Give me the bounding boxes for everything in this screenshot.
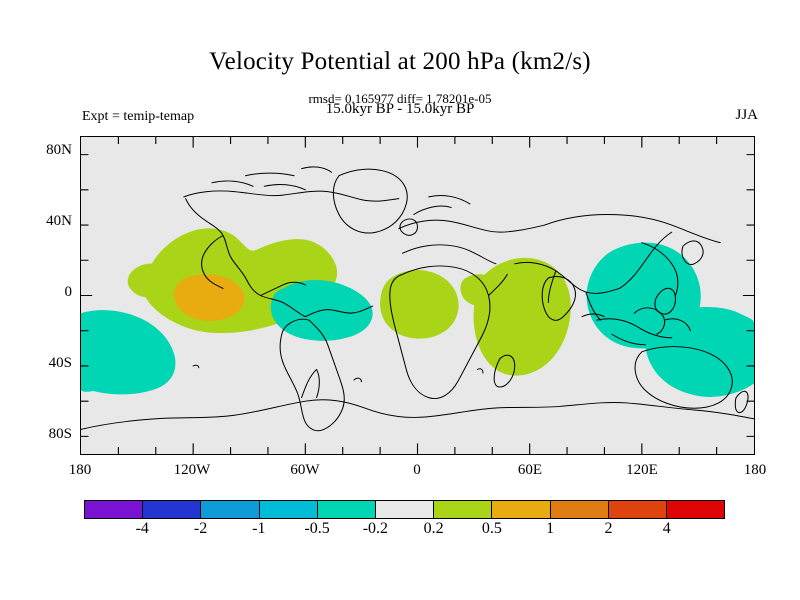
contour-shading-layer <box>81 228 754 397</box>
region-australia-negative <box>645 307 754 397</box>
colorbar-tick-1: 1 <box>520 520 580 538</box>
coastline-new-zealand <box>735 391 748 412</box>
map-plot-area <box>80 136 755 455</box>
colorbar-tick-labels: -4-2-1-0.5-0.20.20.5124 <box>84 520 725 542</box>
colorbar-band-3 <box>260 501 318 518</box>
colorbar <box>84 500 725 519</box>
region-west-africa-positive <box>380 270 459 339</box>
season-label: JJA <box>735 107 758 124</box>
colorbar-band-8 <box>551 501 609 518</box>
x-axis-label-180e: 180 <box>720 462 790 479</box>
colorbar-band-2 <box>201 501 259 518</box>
coastline-japan <box>682 241 703 265</box>
x-axis-label-60e: 60E <box>495 462 565 479</box>
y-axis-label-80s: 80S <box>16 426 72 443</box>
y-axis-label-40n: 40N <box>16 213 72 230</box>
y-axis-label-0: 0 <box>16 284 72 301</box>
colorbar-tick--4: -4 <box>112 520 172 538</box>
x-axis-label-60w: 60W <box>270 462 340 479</box>
colorbar-tick-0.5: 0.5 <box>462 520 522 538</box>
x-axis-label-120w: 120W <box>157 462 227 479</box>
coastline-antarctic-peninsula <box>302 369 320 397</box>
page-title: Velocity Potential at 200 hPa (km2/s) <box>0 48 800 76</box>
region-northeast-pacific-lobe <box>128 264 169 298</box>
colorbar-tick-2: 2 <box>578 520 638 538</box>
region-indian-ocean-positive <box>474 258 571 376</box>
colorbar-band-10 <box>667 501 724 518</box>
coastline-arctic-islands <box>212 167 332 190</box>
colorbar-band-0 <box>85 501 143 518</box>
colorbar-tick--0.5: -0.5 <box>287 520 347 538</box>
coastline-antarctica <box>81 400 754 430</box>
coastline-europe <box>399 195 545 263</box>
x-axis-label-180w: 180 <box>45 462 115 479</box>
x-axis-label-0: 0 <box>382 462 452 479</box>
colorbar-band-5 <box>376 501 434 518</box>
colorbar-tick-0.2: 0.2 <box>404 520 464 538</box>
colorbar-band-4 <box>318 501 376 518</box>
x-axis-label-120e: 120E <box>607 462 677 479</box>
colorbar-bands <box>84 500 725 519</box>
world-map-svg <box>81 137 754 454</box>
colorbar-tick--0.2: -0.2 <box>345 520 405 538</box>
colorbar-band-6 <box>434 501 492 518</box>
colorbar-tick-4: 4 <box>637 520 697 538</box>
colorbar-band-1 <box>143 501 201 518</box>
experiment-label: Expt = temip-temap <box>82 109 194 125</box>
colorbar-band-9 <box>609 501 667 518</box>
colorbar-tick--1: -1 <box>229 520 289 538</box>
y-axis-label-40s: 40S <box>16 355 72 372</box>
y-axis-label-80n: 80N <box>16 142 72 159</box>
colorbar-band-7 <box>492 501 550 518</box>
colorbar-tick--2: -2 <box>171 520 231 538</box>
